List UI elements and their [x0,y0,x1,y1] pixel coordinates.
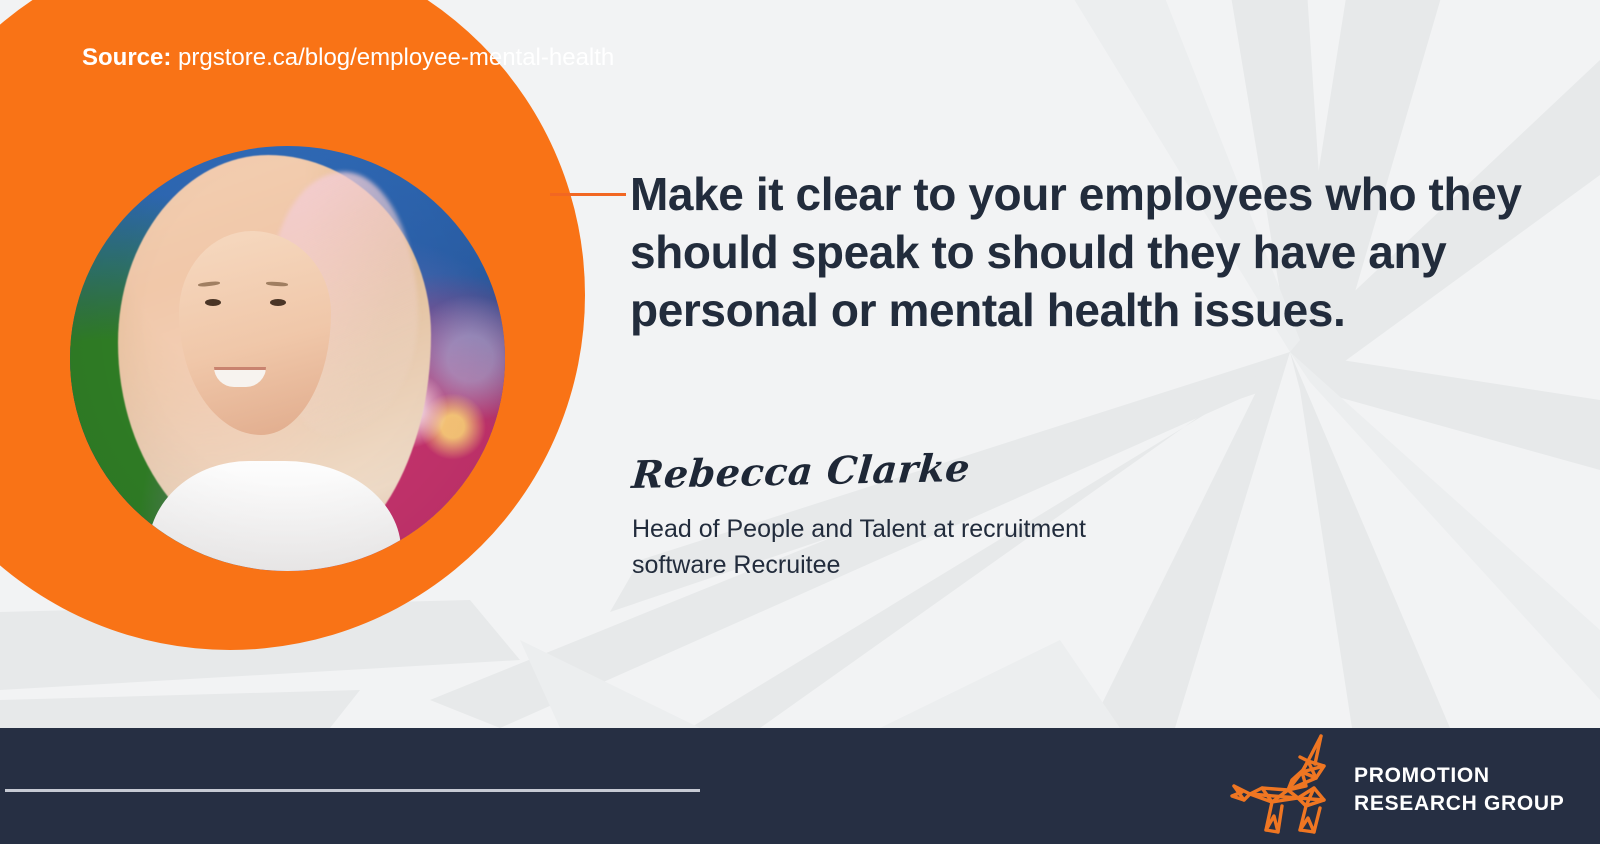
speaker-portrait-photo [70,146,505,571]
brand-logo: PROMOTION RESEARCH GROUP [1228,730,1588,840]
quote-accent-dash [550,193,626,196]
brand-wordmark: PROMOTION RESEARCH GROUP [1354,762,1565,817]
brand-line-2: RESEARCH GROUP [1354,790,1565,818]
quote-text: Make it clear to your employees who they… [630,166,1530,340]
portrait-vignette [70,146,505,571]
attribution-name: Rebecca Clarke [630,445,972,497]
quote-card-slide: Make it clear to your employees who they… [0,0,1600,844]
source-label: Source: [82,44,171,71]
source-underline [5,789,700,792]
unicorn-logo-icon [1228,730,1338,834]
brand-line-1: PROMOTION [1354,762,1565,790]
attribution-role: Head of People and Talent at recruitment… [632,512,1112,583]
source-citation: Source: prgstore.ca/blog/employee-mental… [82,44,614,72]
source-url[interactable]: prgstore.ca/blog/employee-mental-health [178,44,614,71]
